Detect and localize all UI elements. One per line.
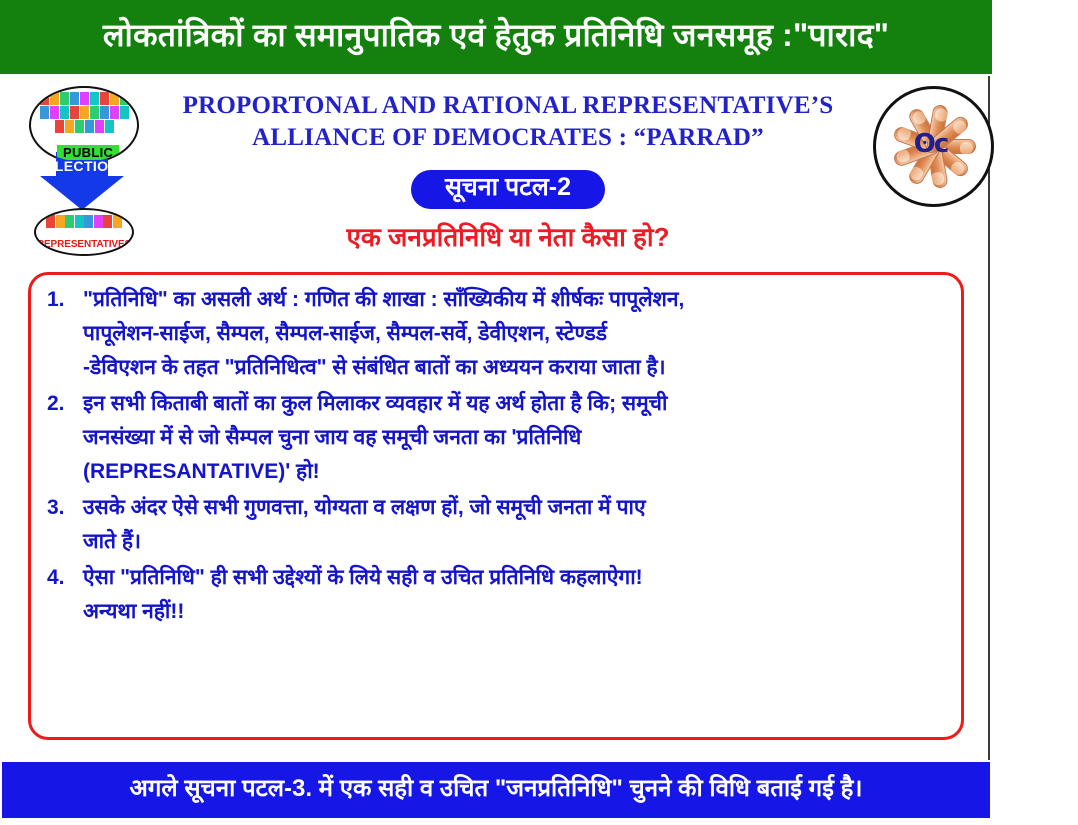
poster-page: लोकतांत्रिकों का समानुपातिक एवं हेतुक प्… bbox=[0, 0, 1078, 825]
person-icon bbox=[70, 106, 79, 119]
footer-banner: अगले सूचना पटल-3. में एक सही व उचित ʺजनप… bbox=[2, 762, 990, 818]
header-section: PUBLIC ELECTION REPRESENTATIVES bbox=[0, 78, 992, 266]
organisation-title: PROPORTONAL AND RATIONAL REPRESENTATIVE’… bbox=[150, 90, 866, 154]
point-body: ऐसा ʺप्रतिनिधिʺ ही सभी उद्देश्यों के लिय… bbox=[83, 561, 953, 629]
representatives-people-row-icon bbox=[36, 215, 132, 228]
points-list: 1. ʺप्रतिनिधिʺ का असली अर्थ : गणित की शा… bbox=[43, 283, 953, 631]
question-heading: एक जनप्रतिनिधि या नेता कैसा हो? bbox=[150, 218, 866, 254]
person-icon bbox=[84, 215, 93, 228]
point-line: (REPRESANTATIVE)ʹ हो! bbox=[83, 455, 953, 489]
person-icon bbox=[80, 92, 89, 105]
person-icon bbox=[65, 120, 74, 133]
person-icon bbox=[75, 120, 84, 133]
notice-board-badge-wrap: सूचना पटल-2 bbox=[150, 170, 866, 209]
person-icon bbox=[55, 120, 64, 133]
point-body: उसके अंदर ऐसे सभी गुणवत्ता, योग्यता व लक… bbox=[83, 491, 953, 559]
person-icon bbox=[120, 92, 129, 105]
person-icon bbox=[50, 106, 59, 119]
public-election-representatives-logo: PUBLIC ELECTION REPRESENTATIVES bbox=[22, 86, 142, 256]
org-title-line-2: ALLIANCE OF DEMOCRATES : “PARRAD” bbox=[150, 122, 866, 154]
person-icon bbox=[100, 106, 109, 119]
person-icon bbox=[80, 106, 89, 119]
election-label: ELECTION bbox=[28, 158, 136, 174]
point-number: 4. bbox=[43, 561, 83, 595]
point-line: इन सभी किताबी बातों का कुल मिलाकर व्यवहा… bbox=[83, 387, 953, 421]
arrow-head bbox=[40, 176, 124, 210]
person-icon bbox=[105, 120, 114, 133]
representatives-ellipse-icon: REPRESENTATIVES bbox=[34, 208, 134, 256]
notice-board-badge: सूचना पटल-2 bbox=[411, 170, 605, 209]
person-icon bbox=[95, 120, 104, 133]
banner-title-text: लोकतांत्रिकों का समानुपातिक एवं हेतुक प्… bbox=[103, 19, 889, 55]
person-icon bbox=[46, 215, 55, 228]
crowd-people-grid-icon bbox=[31, 92, 137, 133]
person-icon bbox=[103, 215, 112, 228]
person-icon bbox=[70, 92, 79, 105]
person-icon bbox=[40, 92, 49, 105]
list-item: 4. ऐसा ʺप्रतिनिधिʺ ही सभी उद्देश्यों के … bbox=[43, 561, 953, 629]
person-icon bbox=[85, 120, 94, 133]
person-icon bbox=[65, 215, 74, 228]
representatives-label: REPRESENTATIVES bbox=[36, 239, 132, 250]
list-item: 2. इन सभी किताबी बातों का कुल मिलाकर व्य… bbox=[43, 387, 953, 489]
person-icon bbox=[75, 215, 84, 228]
point-number: 2. bbox=[43, 387, 83, 421]
footer-text: अगले सूचना पटल-3. में एक सही व उचित ʺजनप… bbox=[130, 777, 863, 804]
unity-hands-circle-logo: ʘc bbox=[873, 86, 988, 201]
point-line: ऐसा ʺप्रतिनिधिʺ ही सभी उद्देश्यों के लिय… bbox=[83, 561, 953, 595]
person-icon bbox=[90, 92, 99, 105]
content-box: 1. ʺप्रतिनिधिʺ का असली अर्थ : गणित की शा… bbox=[28, 272, 964, 740]
person-icon bbox=[120, 106, 129, 119]
point-line: -डेविएशन के तहत ʺप्रतिनिधित्वʺ से संबंधि… bbox=[83, 351, 953, 385]
point-number: 1. bbox=[43, 283, 83, 317]
title-banner: लोकतांत्रिकों का समानुपातिक एवं हेतुक प्… bbox=[0, 0, 992, 74]
person-icon bbox=[60, 92, 69, 105]
person-icon bbox=[110, 92, 119, 105]
person-icon bbox=[100, 92, 109, 105]
person-icon bbox=[60, 106, 69, 119]
point-line: जनसंख्या में से जो सैम्पल चुना जाय वह सम… bbox=[83, 421, 953, 455]
point-body: ʺप्रतिनिधिʺ का असली अर्थ : गणित की शाखा … bbox=[83, 283, 953, 385]
person-icon bbox=[90, 106, 99, 119]
point-line: अन्यथा नहीं!! bbox=[83, 595, 953, 629]
parrad-monogram: ʘc bbox=[873, 86, 988, 201]
point-number: 3. bbox=[43, 491, 83, 525]
point-line: ʺप्रतिनिधिʺ का असली अर्थ : गणित की शाखा … bbox=[83, 283, 953, 317]
point-line: पापूलेशन-साईज, सैम्पल, सैम्पल-साईज, सैम्… bbox=[83, 317, 953, 351]
list-item: 3. उसके अंदर ऐसे सभी गुणवत्ता, योग्यता व… bbox=[43, 491, 953, 559]
person-icon bbox=[113, 215, 122, 228]
person-icon bbox=[110, 106, 119, 119]
person-icon bbox=[56, 215, 65, 228]
point-line: जाते हैं। bbox=[83, 525, 953, 559]
list-item: 1. ʺप्रतिनिधिʺ का असली अर्थ : गणित की शा… bbox=[43, 283, 953, 385]
point-body: इन सभी किताबी बातों का कुल मिलाकर व्यवहा… bbox=[83, 387, 953, 489]
person-icon bbox=[50, 92, 59, 105]
org-title-line-1: PROPORTONAL AND RATIONAL REPRESENTATIVE’… bbox=[150, 90, 866, 122]
person-icon bbox=[94, 215, 103, 228]
point-line: उसके अंदर ऐसे सभी गुणवत्ता, योग्यता व लक… bbox=[83, 491, 953, 525]
person-icon bbox=[40, 106, 49, 119]
